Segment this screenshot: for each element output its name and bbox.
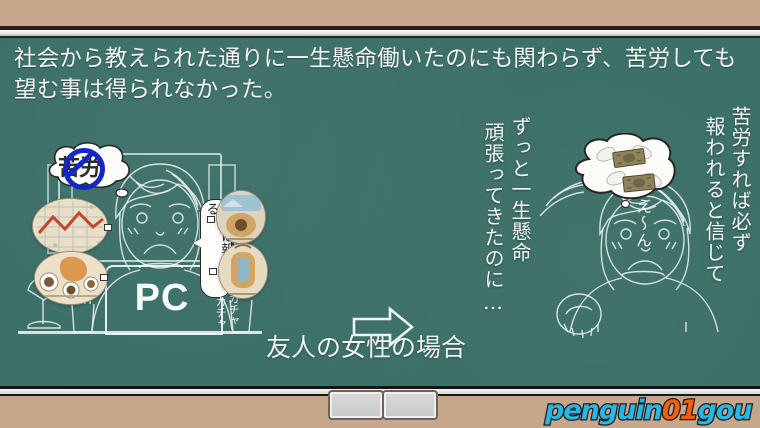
screenshot-root: 社会から教えられた通りに一生懸命働いたのにも関わらず、苦労しても望む事は得られな… xyxy=(0,0,760,428)
circle-image-shopping xyxy=(218,243,268,299)
typing-sound-2: カチャ xyxy=(227,293,239,335)
scene-caption: 友人の女性の場合 xyxy=(266,328,466,364)
circle-image-tail-4 xyxy=(209,268,217,275)
right-thought-bubble-tail xyxy=(621,200,630,208)
circle-image-cafe xyxy=(34,251,108,305)
circle-image-tail-1 xyxy=(104,224,112,231)
circle-image-tail-3 xyxy=(207,216,215,223)
vertical-text-col-1: 苦労すれば必ず xyxy=(728,106,751,306)
headline-text: 社会から教えられた通りに一生懸命働いたのにも関わらず、苦労しても望む事は得られな… xyxy=(14,44,748,106)
right-girl-fist xyxy=(552,288,608,344)
circle-image-travel xyxy=(216,190,266,244)
chalkboard-panel: 社会から教えられた通りに一生懸命働いたのにも関わらず、苦労しても望む事は得られな… xyxy=(0,38,760,386)
tray-button-1[interactable] xyxy=(328,390,384,420)
tray-button-2[interactable] xyxy=(382,390,438,420)
crying-sound-text: え～ん xyxy=(633,198,651,288)
penguin01gou-logo: penguin01gou xyxy=(545,397,752,424)
logo-part-2: 01 xyxy=(662,395,698,426)
typing-sound-1: カチャ xyxy=(214,296,226,338)
thought-bubble-tail xyxy=(113,186,131,202)
left-speech-bubble-tail xyxy=(193,238,202,248)
frame-top-border xyxy=(0,0,760,26)
vertical-text-col-2: 報われると信じて xyxy=(702,116,725,306)
vertical-text-col-4: 頑張ってきたのに… xyxy=(481,122,504,317)
circle-image-chart xyxy=(32,198,108,254)
logo-part-1: penguin xyxy=(545,395,662,426)
circle-image-tail-2 xyxy=(100,274,108,281)
logo-part-3: gou xyxy=(697,395,751,426)
vertical-text-col-3: ずっと一生懸命 xyxy=(508,116,531,316)
